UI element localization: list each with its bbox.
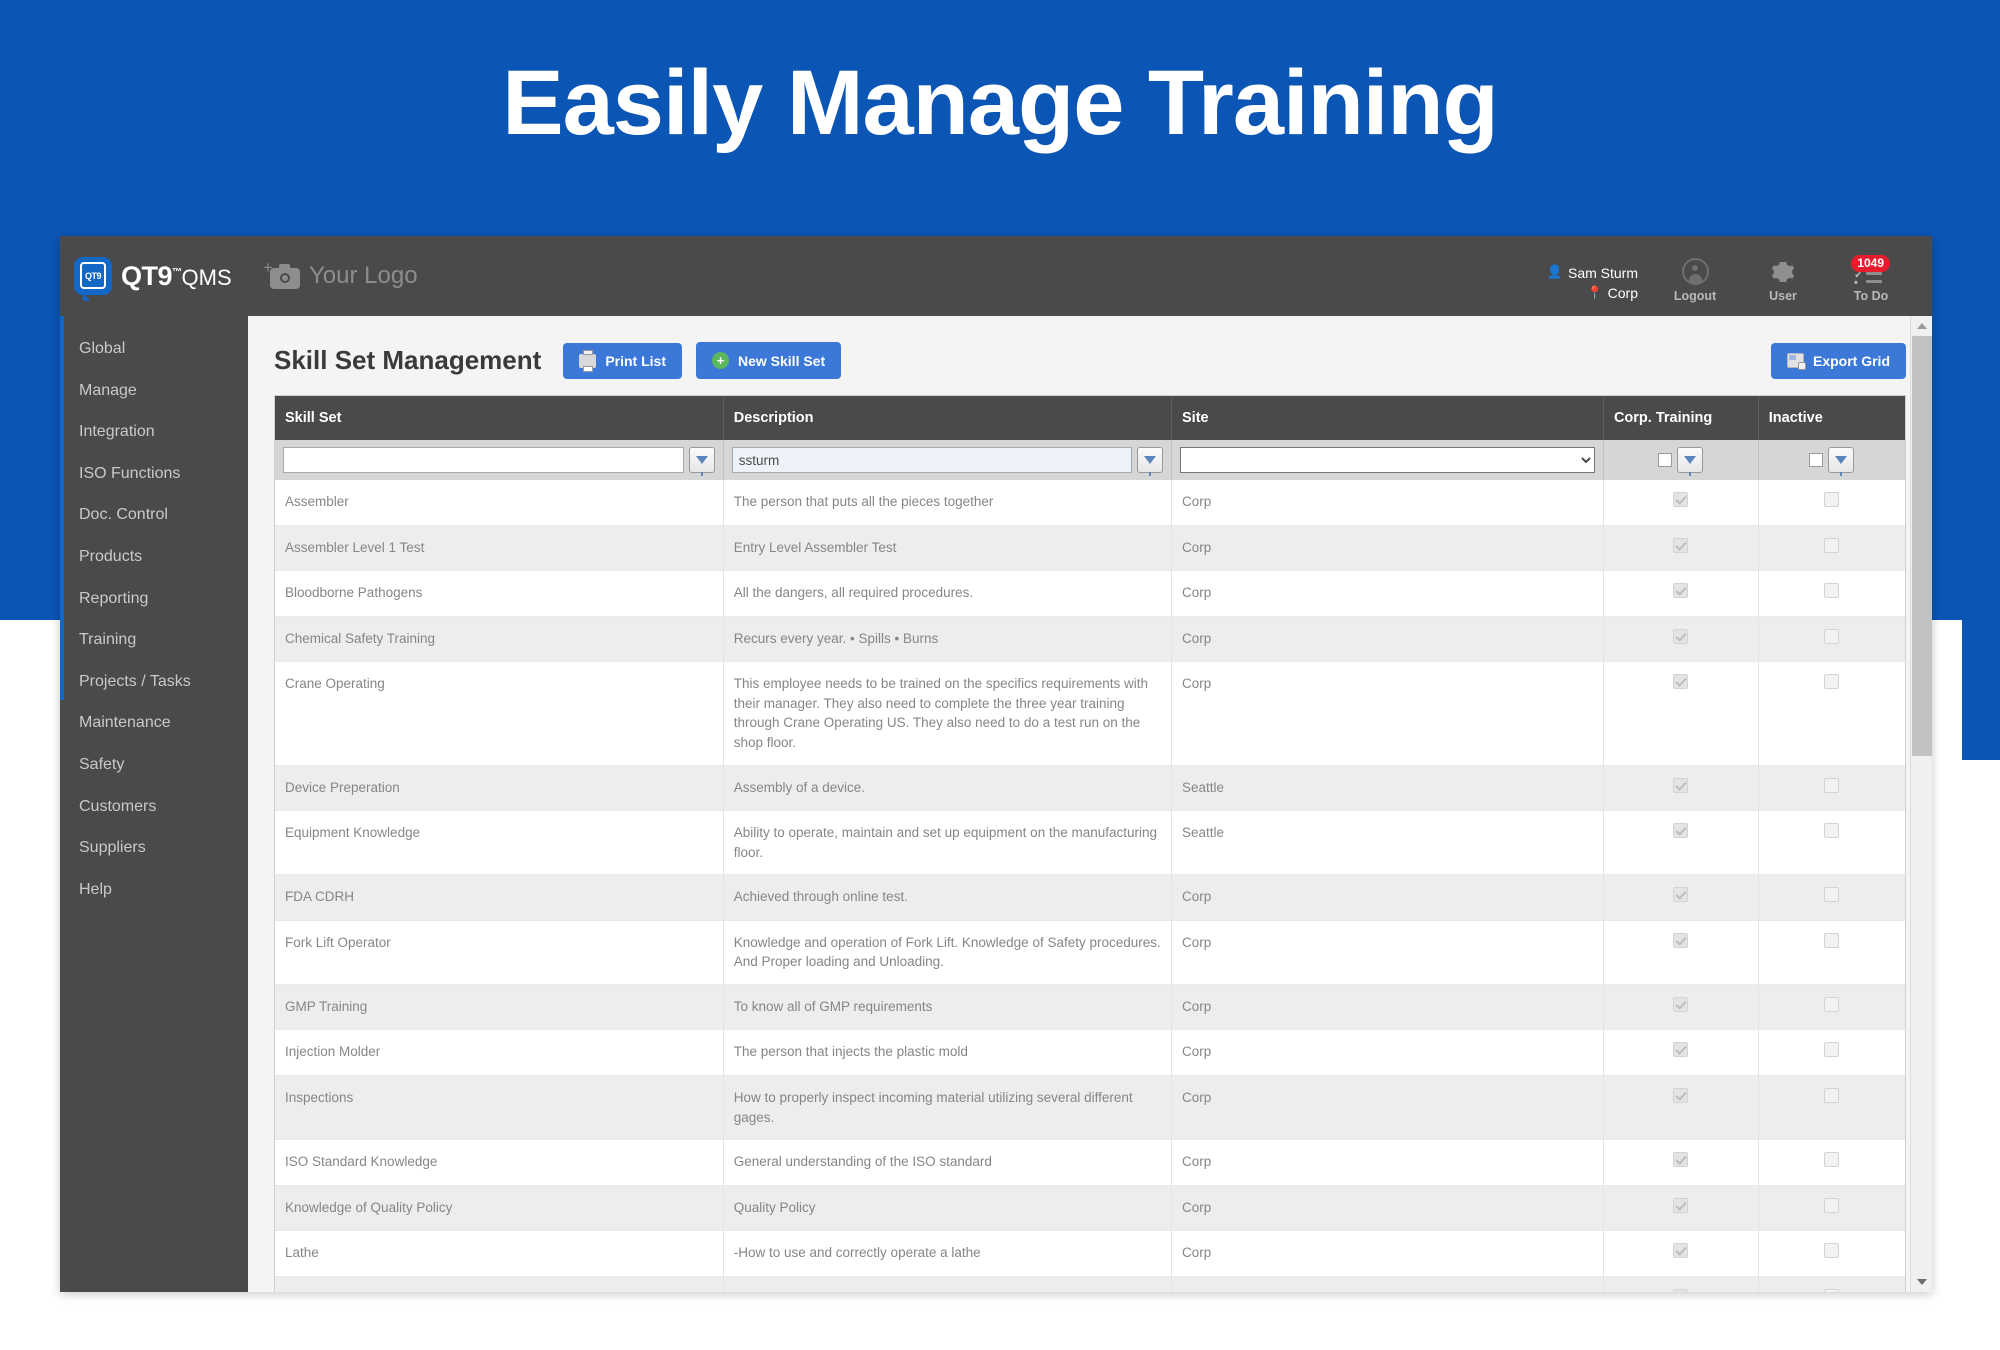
cell-inactive [1758, 616, 1905, 662]
sidebar-item-global[interactable]: Global [60, 328, 248, 370]
filter-cell-description [723, 440, 1171, 480]
column-header-site[interactable]: Site [1172, 396, 1604, 440]
app-window: QT9 QT9™QMS + Your Logo 👤 Sam Sturm 📍 Co… [60, 236, 1932, 1292]
logout-button[interactable]: Logout [1664, 249, 1726, 303]
cell-description: Assembly of a device. [723, 765, 1171, 811]
cell-corp-training [1603, 1076, 1758, 1140]
camera-icon: + [270, 268, 300, 289]
qt9-wordmark-main: QT9 [121, 261, 172, 291]
cell-description: To know all of GMP requirements [723, 984, 1171, 1030]
cell-site: Corp [1172, 1231, 1604, 1277]
description-filter-input[interactable] [732, 447, 1132, 473]
cell-corp-training [1603, 662, 1758, 765]
sidebar-item-integration[interactable]: Integration [60, 411, 248, 453]
cell-inactive [1758, 1231, 1905, 1277]
sidebar-item-products[interactable]: Products [60, 536, 248, 578]
sidebar-item-help[interactable]: Help [60, 869, 248, 911]
todo-button[interactable]: ✓ ✓ • 1049 To Do [1840, 249, 1902, 303]
qt9-logo-inner-text: QT9 [80, 262, 106, 289]
new-skill-set-button[interactable]: + New Skill Set [696, 342, 841, 379]
table-row[interactable]: Chemical Safety TrainingRecurs every yea… [275, 616, 1905, 662]
skill-set-grid: Skill Set Description Site Corp. Trainin… [275, 396, 1905, 1292]
sidebar-item-training[interactable]: Training [60, 619, 248, 661]
plus-icon: + [263, 259, 273, 276]
inactive-checkbox [1824, 583, 1839, 598]
cell-skill-set[interactable]: Inspections [275, 1076, 723, 1140]
skill-set-grid-wrap: Skill Set Description Site Corp. Trainin… [274, 395, 1906, 1292]
cell-inactive [1758, 765, 1905, 811]
inactive-checkbox [1824, 1198, 1839, 1213]
inactive-filter-checkbox[interactable] [1809, 453, 1823, 467]
cell-site: Corp [1172, 984, 1604, 1030]
cell-corp-training [1603, 480, 1758, 525]
cell-corp-training [1603, 571, 1758, 617]
page-header: Skill Set Management Print List + New Sk… [248, 316, 1932, 395]
cell-skill-set[interactable]: Bloodborne Pathogens [275, 571, 723, 617]
cell-corp-training [1603, 875, 1758, 921]
cell-description: Ability to operate, maintain and set up … [723, 811, 1171, 875]
printer-icon [579, 354, 596, 368]
inactive-checkbox [1824, 997, 1839, 1012]
cell-site: Corp [1172, 920, 1604, 984]
corp-training-checkbox [1673, 1198, 1688, 1213]
cell-site: Corp [1172, 1140, 1604, 1186]
cell-skill-set[interactable]: Injection Molder [275, 1030, 723, 1076]
your-logo-uploader[interactable]: + Your Logo [270, 262, 418, 290]
user-settings-button[interactable]: User [1752, 249, 1814, 303]
table-row[interactable]: ISO Standard KnowledgeGeneral understand… [275, 1140, 1905, 1186]
inactive-checkbox [1824, 629, 1839, 644]
column-header-description[interactable]: Description [723, 396, 1171, 440]
table-row[interactable]: Knowledge of Quality PolicyQuality Polic… [275, 1185, 1905, 1231]
corp-training-checkbox [1673, 629, 1688, 644]
cell-site: Seattle [1172, 765, 1604, 811]
table-row[interactable]: AssemblerThe person that puts all the pi… [275, 480, 1905, 525]
corp-training-checkbox [1673, 1289, 1688, 1292]
export-grid-label: Export Grid [1813, 353, 1890, 369]
sidebar-item-reporting[interactable]: Reporting [60, 578, 248, 620]
brand-zone[interactable]: QT9 QT9™QMS [60, 236, 248, 316]
sidebar-item-iso-functions[interactable]: ISO Functions [60, 453, 248, 495]
cell-inactive [1758, 480, 1905, 525]
corp-training-checkbox [1673, 1152, 1688, 1167]
cell-skill-set[interactable]: Equipment Knowledge [275, 811, 723, 875]
grid-body: AssemblerThe person that puts all the pi… [275, 440, 1905, 1292]
corp-training-filter-checkbox[interactable] [1658, 453, 1672, 467]
filter-cell-inactive [1758, 440, 1905, 480]
logout-label: Logout [1664, 289, 1726, 303]
table-row[interactable]: Crane OperatingThis employee needs to be… [275, 662, 1905, 765]
funnel-icon [1684, 456, 1696, 464]
cell-site: Corp [1172, 480, 1604, 525]
sidebar-item-doc-control[interactable]: Doc. Control [60, 494, 248, 536]
person-circle-icon [1682, 258, 1709, 285]
corp-training-checkbox [1673, 823, 1688, 838]
gear-icon [1770, 259, 1796, 285]
user-name-line: 👤 Sam Sturm [1547, 263, 1638, 283]
filter-cell-corp-training [1603, 440, 1758, 480]
column-header-corp-training[interactable]: Corp. Training [1603, 396, 1758, 440]
table-row[interactable]: GMP TrainingTo know all of GMP requireme… [275, 984, 1905, 1030]
cell-description: Knowledge and operation of Fork Lift. Kn… [723, 920, 1171, 984]
inactive-checkbox [1824, 492, 1839, 507]
cell-description: Recurs every year. • Spills • Burns [723, 616, 1171, 662]
cell-corp-training [1603, 811, 1758, 875]
new-skill-set-label: New Skill Set [738, 353, 825, 369]
cell-site: Corp [1172, 1276, 1604, 1292]
cell-inactive [1758, 662, 1905, 765]
table-row[interactable]: Injection MolderThe person that injects … [275, 1030, 1905, 1076]
location-pin-icon: 📍 [1586, 284, 1602, 303]
cell-site: Corp [1172, 662, 1604, 765]
todo-line-3 [1866, 280, 1882, 283]
cell-site: Corp [1172, 571, 1604, 617]
cell-inactive [1758, 571, 1905, 617]
cell-site: Corp [1172, 525, 1604, 571]
cell-skill-set[interactable]: Device Preperation [275, 765, 723, 811]
corp-training-checkbox [1673, 1243, 1688, 1258]
table-row[interactable]: Bloodborne PathogensAll the dangers, all… [275, 571, 1905, 617]
inactive-checkbox [1824, 887, 1839, 902]
funnel-icon [696, 456, 708, 464]
grid-header: Skill Set Description Site Corp. Trainin… [275, 396, 1905, 440]
chevron-down-icon [1917, 1279, 1927, 1285]
sidebar-item-customers[interactable]: Customers [60, 786, 248, 828]
promo-headline: Easily Manage Training [0, 55, 2000, 152]
qt9-wordmark: QT9™QMS [121, 261, 232, 292]
cell-skill-set[interactable]: Chemical Safety Training [275, 616, 723, 662]
user-site: Corp [1608, 283, 1638, 303]
cell-description: Achieved through online test. [723, 875, 1171, 921]
cell-corp-training [1603, 1030, 1758, 1076]
table-row[interactable]: Assembler Level 1 TestEntry Level Assemb… [275, 525, 1905, 571]
inactive-checkbox [1824, 1289, 1839, 1292]
corp-training-checkbox [1673, 583, 1688, 598]
inactive-checkbox [1824, 778, 1839, 793]
inactive-checkbox [1824, 1243, 1839, 1258]
corp-training-checkbox [1673, 674, 1688, 689]
table-row[interactable]: FDA CDRHAchieved through online test.Cor… [275, 875, 1905, 921]
cell-description: -How to use and correctly operate a lath… [723, 1231, 1171, 1277]
corp-training-checkbox [1673, 997, 1688, 1012]
cell-corp-training [1603, 616, 1758, 662]
cell-corp-training [1603, 1140, 1758, 1186]
cell-description: The person that puts all the pieces toge… [723, 480, 1171, 525]
cell-inactive [1758, 1076, 1905, 1140]
sidebar-item-projects-tasks[interactable]: Projects / Tasks [60, 661, 248, 703]
page-title: Skill Set Management [274, 345, 541, 376]
table-row[interactable]: InspectionsHow to properly inspect incom… [275, 1076, 1905, 1140]
cell-skill-set[interactable]: Knowledge of Quality Policy [275, 1185, 723, 1231]
cell-description: All the dangers, all required procedures… [723, 571, 1171, 617]
cell-inactive [1758, 920, 1905, 984]
sidebar-item-suppliers[interactable]: Suppliers [60, 827, 248, 869]
cell-site: Corp [1172, 616, 1604, 662]
table-row[interactable]: Lathe-How to use and correctly operate a… [275, 1231, 1905, 1277]
current-user-block[interactable]: 👤 Sam Sturm 📍 Corp [1547, 249, 1638, 304]
cell-inactive [1758, 984, 1905, 1030]
todo-line-2 [1866, 272, 1882, 275]
chevron-up-icon [1917, 323, 1927, 329]
your-logo-label: Your Logo [309, 262, 418, 290]
todo-icon-wrap: ✓ ✓ • 1049 [1840, 257, 1902, 287]
cell-corp-training [1603, 984, 1758, 1030]
corp-training-checkbox [1673, 933, 1688, 948]
filter-cell-skill-set [275, 440, 723, 480]
cell-skill-set[interactable]: Fork Lift Operator [275, 920, 723, 984]
app-body: Global Manage Integration ISO Functions … [60, 316, 1932, 1292]
logout-icon-wrap [1664, 257, 1726, 287]
scrollbar-up-arrow[interactable] [1911, 316, 1932, 336]
cell-description: This employee needs to be trained on the… [723, 662, 1171, 765]
inactive-checkbox [1824, 1152, 1839, 1167]
cell-site: Seattle [1172, 811, 1604, 875]
site-filter-select[interactable] [1180, 447, 1595, 473]
cell-corp-training [1603, 920, 1758, 984]
cell-description: Entry Level Assembler Test [723, 525, 1171, 571]
cell-corp-training [1603, 1276, 1758, 1292]
sidebar-item-maintenance[interactable]: Maintenance [60, 702, 248, 744]
inactive-checkbox [1824, 823, 1839, 838]
funnel-icon [1144, 456, 1156, 464]
table-row[interactable]: Device PreperationAssembly of a device.S… [275, 765, 1905, 811]
cell-skill-set[interactable]: Learn more of the frozen inventory [275, 1276, 723, 1292]
column-header-skill-set[interactable]: Skill Set [275, 396, 723, 440]
corp-training-checkbox [1673, 492, 1688, 507]
spreadsheet-export-icon [1787, 353, 1804, 368]
cell-skill-set[interactable]: GMP Training [275, 984, 723, 1030]
sidebar-nav: Global Manage Integration ISO Functions … [60, 316, 248, 1292]
cell-inactive [1758, 525, 1905, 571]
corp-training-checkbox [1673, 1042, 1688, 1057]
inactive-checkbox [1824, 538, 1839, 553]
print-list-button[interactable]: Print List [563, 343, 682, 379]
grid-header-row: Skill Set Description Site Corp. Trainin… [275, 396, 1905, 440]
user-icon-wrap [1752, 257, 1814, 287]
cell-corp-training [1603, 1185, 1758, 1231]
cell-skill-set[interactable]: Assembler Level 1 Test [275, 525, 723, 571]
cell-inactive [1758, 1030, 1905, 1076]
cell-site: Corp [1172, 875, 1604, 921]
column-header-inactive[interactable]: Inactive [1758, 396, 1905, 440]
corp-training-checkbox [1673, 887, 1688, 902]
todo-count-badge: 1049 [1851, 255, 1890, 272]
cell-corp-training [1603, 1231, 1758, 1277]
cell-description: The person that injects the plastic mold [723, 1030, 1171, 1076]
cell-site: Corp [1172, 1185, 1604, 1231]
user-label: User [1752, 289, 1814, 303]
cell-inactive [1758, 1140, 1905, 1186]
export-grid-wrap: Export Grid [1771, 343, 1906, 379]
cell-inactive [1758, 1276, 1905, 1292]
corp-training-checkbox [1673, 1088, 1688, 1103]
cell-description: General understanding of the ISO standar… [723, 1140, 1171, 1186]
cell-description: Quality Policy [723, 1185, 1171, 1231]
table-row[interactable]: Equipment KnowledgeAbility to operate, m… [275, 811, 1905, 875]
cell-corp-training [1603, 525, 1758, 571]
user-name: Sam Sturm [1568, 263, 1638, 283]
cell-inactive [1758, 875, 1905, 921]
app-topbar: QT9 QT9™QMS + Your Logo 👤 Sam Sturm 📍 Co… [60, 236, 1932, 316]
export-grid-button[interactable]: Export Grid [1771, 343, 1906, 379]
inactive-checkbox [1824, 933, 1839, 948]
scrollbar-down-arrow[interactable] [1911, 1272, 1932, 1292]
cell-site: Corp [1172, 1030, 1604, 1076]
scrollbar-thumb[interactable] [1912, 336, 1932, 756]
cell-skill-set[interactable]: ISO Standard Knowledge [275, 1140, 723, 1186]
sidebar-item-manage[interactable]: Manage [60, 370, 248, 412]
table-row[interactable]: Learn more of the frozen inventoryHaving… [275, 1276, 1905, 1292]
cell-site: Corp [1172, 1076, 1604, 1140]
sidebar-active-accent [60, 316, 64, 700]
corp-training-filter-button[interactable] [1677, 447, 1703, 473]
skill-set-filter-input[interactable] [283, 447, 684, 473]
trademark-glyph: ™ [172, 267, 182, 278]
plus-circle-icon: + [712, 352, 729, 369]
cell-description: Having a better understanding of the fro… [723, 1276, 1171, 1292]
funnel-icon [1835, 456, 1847, 464]
todo-check-3: • [1854, 278, 1858, 289]
content-area: Skill Set Management Print List + New Sk… [248, 316, 1932, 1292]
grid-filter-row [275, 440, 1905, 480]
cell-skill-set[interactable]: FDA CDRH [275, 875, 723, 921]
topbar-right-group: 👤 Sam Sturm 📍 Corp Logout [1547, 249, 1932, 304]
corp-training-checkbox [1673, 778, 1688, 793]
inactive-checkbox [1824, 1042, 1839, 1057]
corp-training-checkbox [1673, 538, 1688, 553]
inactive-checkbox [1824, 1088, 1839, 1103]
table-row[interactable]: Fork Lift OperatorKnowledge and operatio… [275, 920, 1905, 984]
cell-skill-set[interactable]: Lathe [275, 1231, 723, 1277]
content-scrollbar[interactable] [1910, 316, 1932, 1292]
todo-label: To Do [1840, 289, 1902, 303]
qt9-logo-icon: QT9 [74, 257, 112, 295]
description-filter-button[interactable] [1137, 447, 1163, 473]
todo-list-icon: ✓ ✓ • 1049 [1854, 259, 1888, 285]
cell-skill-set[interactable]: Assembler [275, 480, 723, 525]
skill-set-filter-button[interactable] [689, 447, 715, 473]
print-list-label: Print List [605, 353, 666, 369]
inactive-checkbox [1824, 674, 1839, 689]
user-site-line: 📍 Corp [1547, 283, 1638, 303]
cell-description: How to properly inspect incoming materia… [723, 1076, 1171, 1140]
inactive-filter-button[interactable] [1828, 447, 1854, 473]
person-icon: 👤 [1547, 263, 1563, 282]
filter-cell-site [1172, 440, 1604, 480]
sidebar-item-safety[interactable]: Safety [60, 744, 248, 786]
cell-skill-set[interactable]: Crane Operating [275, 662, 723, 765]
cell-inactive [1758, 811, 1905, 875]
cell-corp-training [1603, 765, 1758, 811]
qt9-wordmark-suffix: QMS [182, 265, 232, 290]
cell-inactive [1758, 1185, 1905, 1231]
